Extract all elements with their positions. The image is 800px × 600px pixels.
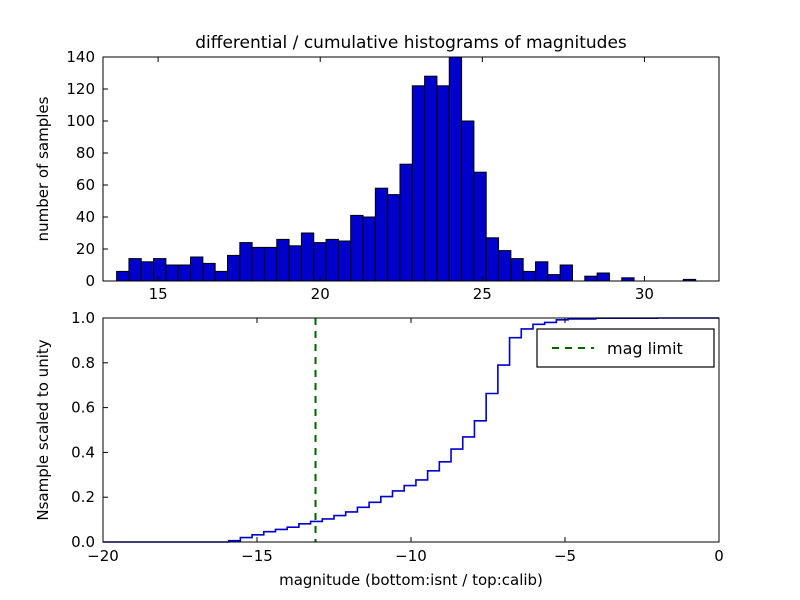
top-y-tick-label: 0 xyxy=(85,272,95,290)
legend-entry-mag-limit: mag limit xyxy=(607,339,683,358)
histogram-bar xyxy=(375,188,387,281)
top-x-tick-label: 20 xyxy=(311,285,330,303)
legend[interactable]: mag limit xyxy=(537,329,714,367)
histogram-bar xyxy=(264,247,276,281)
histogram-bar xyxy=(154,259,166,281)
matplotlib-figure: differential / cumulative histograms of … xyxy=(0,0,800,600)
histogram-bar xyxy=(425,76,437,281)
bottom-y-tick-label: 0.6 xyxy=(71,399,95,417)
bottom-y-tick-label: 1.0 xyxy=(71,309,95,327)
bottom-y-tick-label: 0.4 xyxy=(71,443,95,461)
histogram-bar xyxy=(252,247,264,281)
bottom-y-ticks: 0.00.20.40.60.81.0 xyxy=(71,309,108,551)
top-y-tick-label: 80 xyxy=(76,144,95,162)
histogram-bar xyxy=(166,265,178,281)
histogram-bar xyxy=(228,255,240,281)
bottom-y-tick-label: 0.8 xyxy=(71,354,95,372)
histogram-bar xyxy=(289,246,301,281)
histogram-bar xyxy=(203,263,215,281)
top-y-tick-label: 20 xyxy=(76,240,95,258)
histogram-bar xyxy=(548,275,560,281)
top-y-ticks: 020406080100120140 xyxy=(66,48,108,290)
histogram-bar xyxy=(585,276,597,281)
histogram-bar xyxy=(412,86,424,281)
histogram-bar xyxy=(437,86,449,281)
histogram-bar xyxy=(449,57,461,281)
histogram-bar xyxy=(141,262,153,281)
top-x-tick-label: 25 xyxy=(473,285,492,303)
top-x-tick-label: 15 xyxy=(149,285,168,303)
histogram-bar xyxy=(129,259,141,281)
histogram-bar xyxy=(240,243,252,281)
histogram-bar xyxy=(326,239,338,281)
histogram-bar xyxy=(560,265,572,281)
histogram-bar xyxy=(363,217,375,281)
histogram-bar xyxy=(301,233,313,281)
histogram-bar xyxy=(338,241,350,281)
top-y-tick-label: 60 xyxy=(76,176,95,194)
bottom-y-axis-label: Nsample scaled to unity xyxy=(34,339,52,520)
top-y-tick-label: 120 xyxy=(66,80,95,98)
histogram-bar xyxy=(191,257,203,281)
histogram-bar xyxy=(511,259,523,281)
bottom-x-tick-label: −10 xyxy=(395,547,427,565)
histogram-bar xyxy=(474,172,486,281)
page-title: differential / cumulative histograms of … xyxy=(195,33,627,53)
histogram-bar xyxy=(215,271,227,281)
histogram-bar xyxy=(277,239,289,281)
histogram-bar xyxy=(462,121,474,281)
top-y-tick-label: 40 xyxy=(76,208,95,226)
bottom-y-tick-label: 0.2 xyxy=(71,488,95,506)
bottom-axes: −20−15−10−50 0.00.20.40.60.81.0 Nsample … xyxy=(34,309,724,589)
top-y-axis-label: number of samples xyxy=(34,96,52,241)
top-x-tick-label: 30 xyxy=(635,285,654,303)
figure-canvas: differential / cumulative histograms of … xyxy=(0,0,800,600)
histogram-bar xyxy=(597,273,609,281)
histogram-bars xyxy=(117,57,696,281)
histogram-bar xyxy=(178,265,190,281)
top-y-tick-label: 140 xyxy=(66,48,95,66)
histogram-bar xyxy=(314,243,326,281)
histogram-bar xyxy=(536,262,548,281)
top-axes: differential / cumulative histograms of … xyxy=(34,33,719,303)
histogram-bar xyxy=(388,195,400,281)
bottom-y-tick-label: 0.0 xyxy=(71,533,95,551)
histogram-bar xyxy=(117,271,129,281)
bottom-x-tick-label: −15 xyxy=(241,547,273,565)
histogram-bar xyxy=(486,238,498,281)
top-y-tick-label: 100 xyxy=(66,112,95,130)
bottom-x-axis-label: magnitude (bottom:isnt / top:calib) xyxy=(279,571,543,589)
histogram-bar xyxy=(400,164,412,281)
histogram-bar xyxy=(523,271,535,281)
bottom-x-tick-label: −5 xyxy=(554,547,576,565)
bottom-x-tick-label: 0 xyxy=(714,547,724,565)
histogram-bar xyxy=(351,215,363,281)
histogram-bar xyxy=(499,251,511,281)
